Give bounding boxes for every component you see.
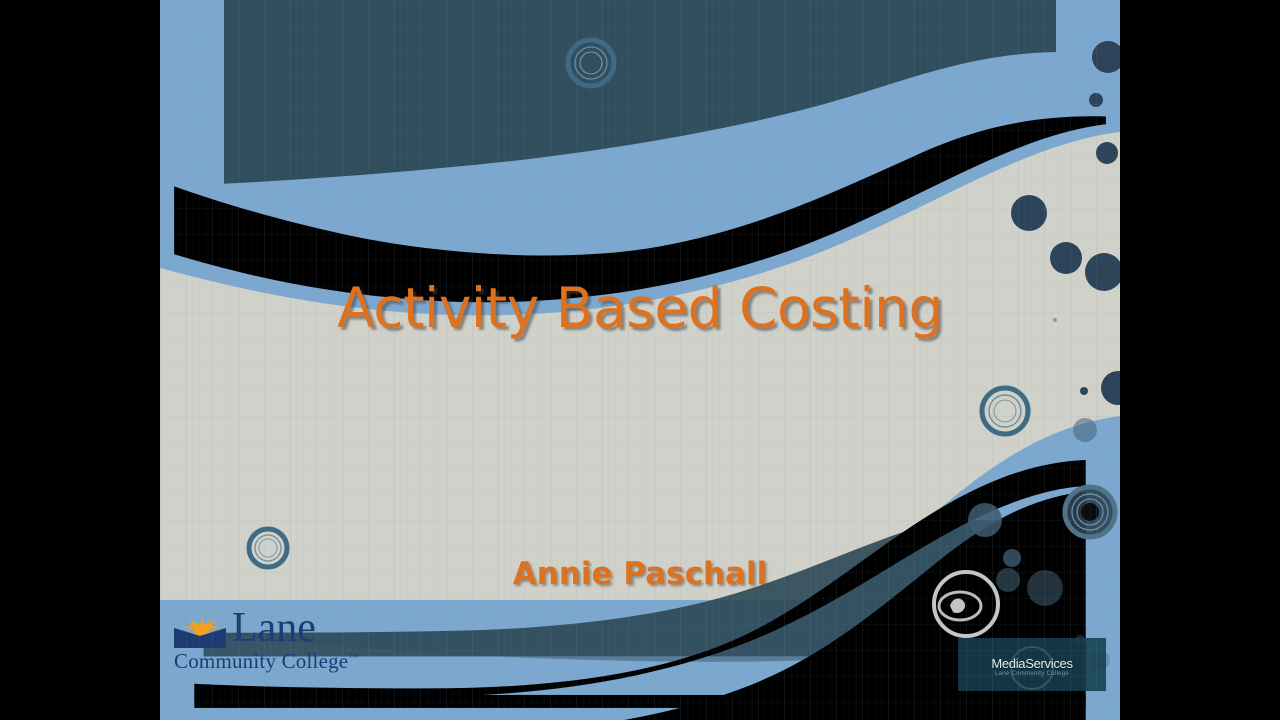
open-book-sunburst-icon: [172, 614, 228, 648]
mediaservices-label: MediaServices: [958, 656, 1106, 671]
lane-subtitle-line: Community College™: [174, 649, 358, 674]
mediaservices-watermark: MediaServices Lane Community College: [958, 638, 1106, 691]
mediaservices-sublabel: Lane Community College: [958, 671, 1106, 677]
presenter-name: Annie Paschall: [160, 556, 1120, 592]
lane-community-college-logo: Lane Community College™: [172, 608, 387, 676]
video-frame: Activity Based Costing Annie Paschall: [0, 0, 1280, 720]
slide-title: Activity Based Costing: [160, 276, 1120, 340]
presentation-slide: Activity Based Costing Annie Paschall: [160, 0, 1120, 720]
pillarbox-left: [0, 0, 160, 720]
lane-wordmark: Lane: [232, 606, 316, 650]
lane-subtitle-text: Community College: [174, 649, 348, 673]
trademark-symbol: ™: [348, 652, 358, 663]
pillarbox-right: [1120, 0, 1280, 720]
